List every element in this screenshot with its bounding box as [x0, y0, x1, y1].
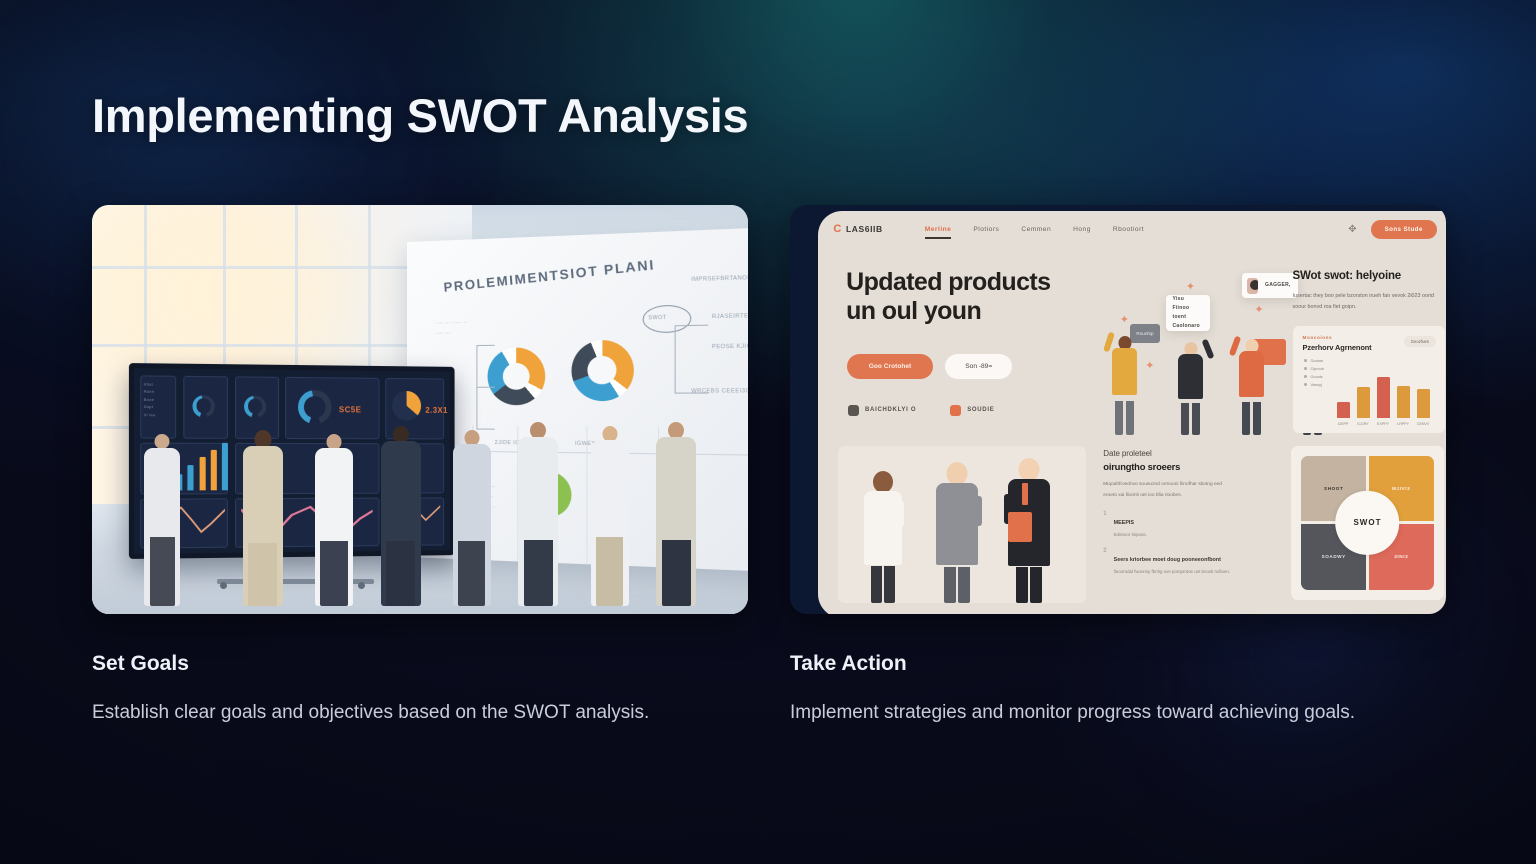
legend-label-2: Ciproob: [1311, 367, 1324, 371]
legend-label-3: Gouols: [1311, 375, 1323, 379]
whiteboard-note-2: RJASEIRTETION: [712, 310, 748, 322]
website-mockup-image: C LAS6IIB Merline Plotiors Cemmen Hong R…: [790, 205, 1446, 614]
floating-card-2: GAGGER,: [1242, 273, 1298, 298]
column-heading-take-action: Take Action: [790, 652, 1446, 676]
mockup-page: C LAS6IIB Merline Plotiors Cemmen Hong R…: [818, 211, 1446, 614]
legend-dot: [1304, 383, 1307, 386]
person-1: [243, 430, 283, 606]
swot-quadrant-label-bl: SOADWY: [1322, 554, 1346, 559]
handshake-illustration: [838, 446, 1086, 604]
image-card-set-goals[interactable]: PROLEMIMENTSIOT PLANI SWOT IMPRSEFBRTANO…: [92, 205, 748, 614]
hero-primary-button[interactable]: Goo Crotohet: [847, 354, 934, 379]
mockup-logo[interactable]: C LAS6IIB: [833, 223, 882, 235]
chart-filter-pill[interactable]: Geozhars: [1404, 336, 1436, 347]
list-item-desc: fieoorndal fwonnsy fbnhg ove pomprotoe u…: [1114, 568, 1230, 577]
compass-icon: ✥: [1348, 224, 1356, 235]
person-6: [591, 426, 629, 606]
hero-logo-strip: BAICHDKLYI O SOUDIE: [848, 405, 994, 416]
lower-list-item: 1 MEEPIS bolesvor Inipoos.: [1103, 511, 1236, 540]
whiteboard-note-4: WRCEBS CEEEI3O: [691, 385, 748, 396]
side-panel-paragraph: Iusertac they boo pele bzorston irueh fa…: [1293, 291, 1445, 314]
hero-headline-line2: un oul youn: [846, 297, 1050, 327]
mockup-nav-links: Merline Plotiors Cemmen Hong Rbootiort: [925, 226, 1144, 233]
person-presenter: [144, 434, 180, 606]
column-heading-set-goals: Set Goals: [92, 652, 748, 676]
performance-chart-card: Moocoions Pzerhorv Agrnenont Geozhars Go…: [1293, 326, 1445, 433]
lower-list-item: 2 Seers kriorbee moet doug pooneeonfbont…: [1103, 548, 1236, 577]
illustration-person-2: [1176, 342, 1206, 434]
chart-x-label-2: ICORY: [1357, 422, 1370, 426]
list-item-number: 1: [1103, 511, 1106, 540]
chart-bar: [1377, 377, 1390, 418]
swot-quadrant-label-br: 3INI3: [1394, 554, 1408, 559]
swot-quadrant-label-tr: MJIVI3: [1392, 486, 1410, 491]
folder-icon: [1008, 512, 1032, 542]
nav-link-hong[interactable]: Hong: [1073, 226, 1091, 233]
whiteboard-title: PROLEMIMENTSIOT PLANI: [443, 257, 656, 295]
swot-quadrants: SHOOT MJIVI3 SOADWY 3INI3: [1301, 456, 1433, 590]
legend-dot: [1304, 375, 1307, 378]
building-icon: [848, 405, 859, 416]
hero-logo-label-2: SOUDIE: [967, 407, 994, 413]
lower-heading-line1: Date proleteel: [1103, 449, 1236, 458]
column-body-set-goals: Establish clear goals and objectives bas…: [92, 698, 732, 729]
hero-headline-line1: Updated products: [846, 268, 1050, 298]
chart-bar: [1397, 386, 1410, 417]
illustration-man-gray-suit: [932, 462, 982, 604]
person-7: [656, 422, 696, 606]
badge-icon: [950, 405, 961, 416]
whiteboard-note-1: IMPRSEFBRTANON BRKIE3E3O: [691, 271, 748, 285]
nav-cta-button[interactable]: Sons Stude: [1371, 220, 1437, 239]
logo-mark-icon: C: [833, 223, 842, 235]
illustration-person-1: [1110, 336, 1140, 435]
person-4: [453, 430, 491, 606]
whiteboard-bubble-label: SWOT: [648, 314, 666, 325]
chart-bar-labels: CiEPP ICORY EXPPY LRPPY CENVV: [1337, 422, 1435, 426]
legend-dot: [1304, 367, 1307, 370]
whiteboard-donut-chart-2: [571, 339, 633, 400]
illustration-woman-white-blazer: [860, 471, 906, 603]
illustration-person-3: [1237, 339, 1267, 435]
avatar: [1247, 278, 1258, 294]
swot-quadrant-label-tl: SHOOT: [1324, 486, 1343, 491]
chart-x-label-3: EXPPY: [1377, 422, 1390, 426]
necktie: [1022, 483, 1028, 505]
swot-quadrant-card: SHOOT MJIVI3 SOADWY 3INI3: [1291, 446, 1443, 600]
chart-legend: Gouroe Ciproob Gouols Vanoyj: [1304, 359, 1324, 391]
image-card-take-action[interactable]: C LAS6IIB Merline Plotiors Cemmen Hong R…: [790, 205, 1446, 614]
slide: Implementing SWOT Analysis: [0, 0, 1536, 864]
list-item-number: 2: [1103, 548, 1106, 577]
chart-x-label-4: LRPPY: [1397, 422, 1410, 426]
nav-link-merline[interactable]: Merline: [925, 226, 952, 233]
chart-x-label-5: CENVV: [1417, 422, 1430, 426]
office-dashboard-photo: PROLEMIMENTSIOT PLANI SWOT IMPRSEFBRTANO…: [92, 205, 748, 614]
hero-logo-label-1: BAICHDKLYI O: [865, 407, 916, 413]
logo-text: LAS6IIB: [846, 224, 883, 234]
legend-label-1: Gouroe: [1311, 359, 1324, 363]
column-take-action: C LAS6IIB Merline Plotiors Cemmen Hong R…: [790, 205, 1446, 729]
side-panel-heading: SWot swot: helyoine: [1293, 270, 1445, 282]
lower-heading-line2: oirungtho sroeers: [1103, 461, 1236, 472]
content-columns: PROLEMIMENTSIOT PLANI SWOT IMPRSEFBRTANO…: [92, 205, 1444, 729]
hero-button-row: Goo Crotohet Son -89=: [847, 354, 1012, 379]
swot-center-label: SWOT: [1336, 491, 1400, 555]
legend-dot: [1304, 359, 1307, 362]
whiteboard-note-3: PEOSE KJIGSHS3B5A: [712, 340, 748, 352]
mockup-lower-section: Date proleteel oirungtho sroeers Miqoahf…: [818, 435, 1446, 614]
list-item-desc: bolesvor Inipoos.: [1114, 531, 1147, 540]
lower-text-block: Date proleteel oirungtho sroeers Miqoahf…: [1103, 449, 1236, 577]
chart-x-label-1: CiEPP: [1337, 422, 1350, 426]
floating-card-1: Yisu Fiinoo toent Caolonaro: [1166, 295, 1210, 331]
mockup-hero: Updated products un oul youn Goo Crotohe…: [818, 247, 1446, 434]
chart-bar: [1417, 389, 1430, 418]
dashboard-metric-2: 2.3X1: [426, 405, 448, 414]
page-title: Implementing SWOT Analysis: [92, 88, 748, 143]
lower-paragraph: Miqoahfroednvo soueuznd ormuoni fiinofha…: [1103, 480, 1236, 501]
nav-link-cemmen[interactable]: Cemmen: [1021, 226, 1051, 233]
column-set-goals: PROLEMIMENTSIOT PLANI SWOT IMPRSEFBRTANO…: [92, 205, 748, 729]
nav-link-plotiors[interactable]: Plotiors: [973, 226, 999, 233]
list-item-title: Seers kriorbee moet doug pooneeonfbont: [1114, 557, 1221, 563]
hero-secondary-button[interactable]: Son -89=: [945, 354, 1012, 379]
chart-bar: [1357, 387, 1370, 417]
hero-logo-item-1: BAICHDKLYI O: [848, 405, 916, 416]
hero-logo-item-2: SOUDIE: [950, 405, 994, 416]
legend-label-4: Vanoyj: [1311, 383, 1322, 387]
whiteboard-donut-chart-1: [487, 347, 545, 405]
person-3: [381, 426, 421, 606]
person-5: [518, 422, 558, 606]
chart-bars: [1337, 366, 1435, 418]
chart-bar: [1337, 402, 1350, 418]
hero-headline: Updated products un oul youn: [846, 268, 1050, 327]
dashboard-metric-1: SC5E: [339, 404, 361, 413]
illustration-man-black-suit: [1004, 458, 1054, 603]
column-body-take-action: Implement strategies and monitor progres…: [790, 698, 1430, 729]
whiteboard-left-notes: .... ... ..... .. .... ...: [436, 316, 473, 337]
mockup-navbar: C LAS6IIB Merline Plotiors Cemmen Hong R…: [818, 211, 1446, 248]
hero-side-panel: SWot swot: helyoine Iusertac they boo pe…: [1293, 270, 1445, 433]
person-2: [315, 434, 353, 606]
list-item-title: MEEPIS: [1114, 520, 1134, 526]
nav-link-rbootiort[interactable]: Rbootiort: [1113, 226, 1144, 233]
